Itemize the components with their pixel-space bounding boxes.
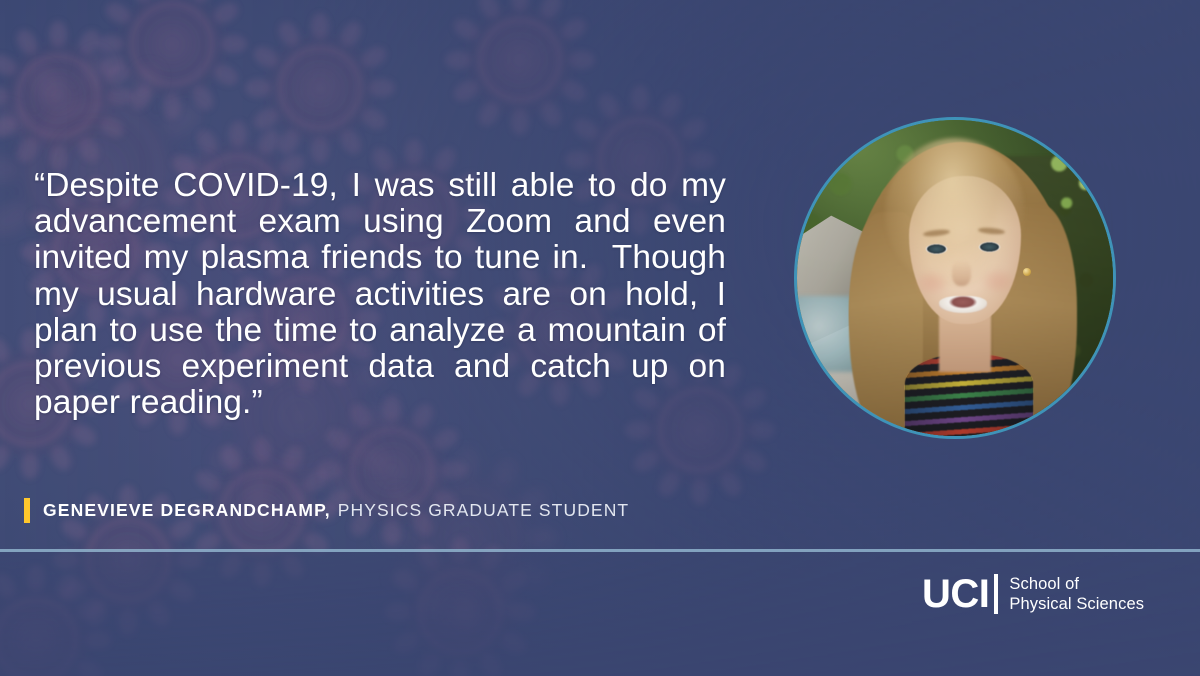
avatar — [794, 117, 1116, 439]
accent-bar-icon — [24, 498, 30, 523]
footer-background — [0, 552, 1200, 676]
attribution: GENEVIEVE DEGRANDCHAMP, PHYSICS GRADUATE… — [24, 496, 629, 524]
logo-unit-name: School of Physical Sciences — [1009, 574, 1144, 614]
quote-block: “Despite COVID-19, I was still able to d… — [34, 168, 726, 421]
quote-text: “Despite COVID-19, I was still able to d… — [34, 168, 726, 421]
logo-separator-icon — [994, 574, 998, 614]
quote-card: “Despite COVID-19, I was still able to d… — [0, 0, 1200, 676]
footer-divider — [0, 549, 1200, 552]
portrait-soft-overlay — [797, 120, 1113, 436]
uci-wordmark: UCI — [922, 574, 989, 614]
attribution-role: PHYSICS GRADUATE STUDENT — [338, 500, 630, 521]
logo-unit-line1: School of — [1009, 574, 1144, 594]
logo-unit-line2: Physical Sciences — [1009, 594, 1144, 614]
uci-logo: UCI School of Physical Sciences — [922, 574, 1144, 614]
portrait-photo — [797, 120, 1113, 436]
attribution-name: GENEVIEVE DEGRANDCHAMP, — [43, 500, 331, 521]
